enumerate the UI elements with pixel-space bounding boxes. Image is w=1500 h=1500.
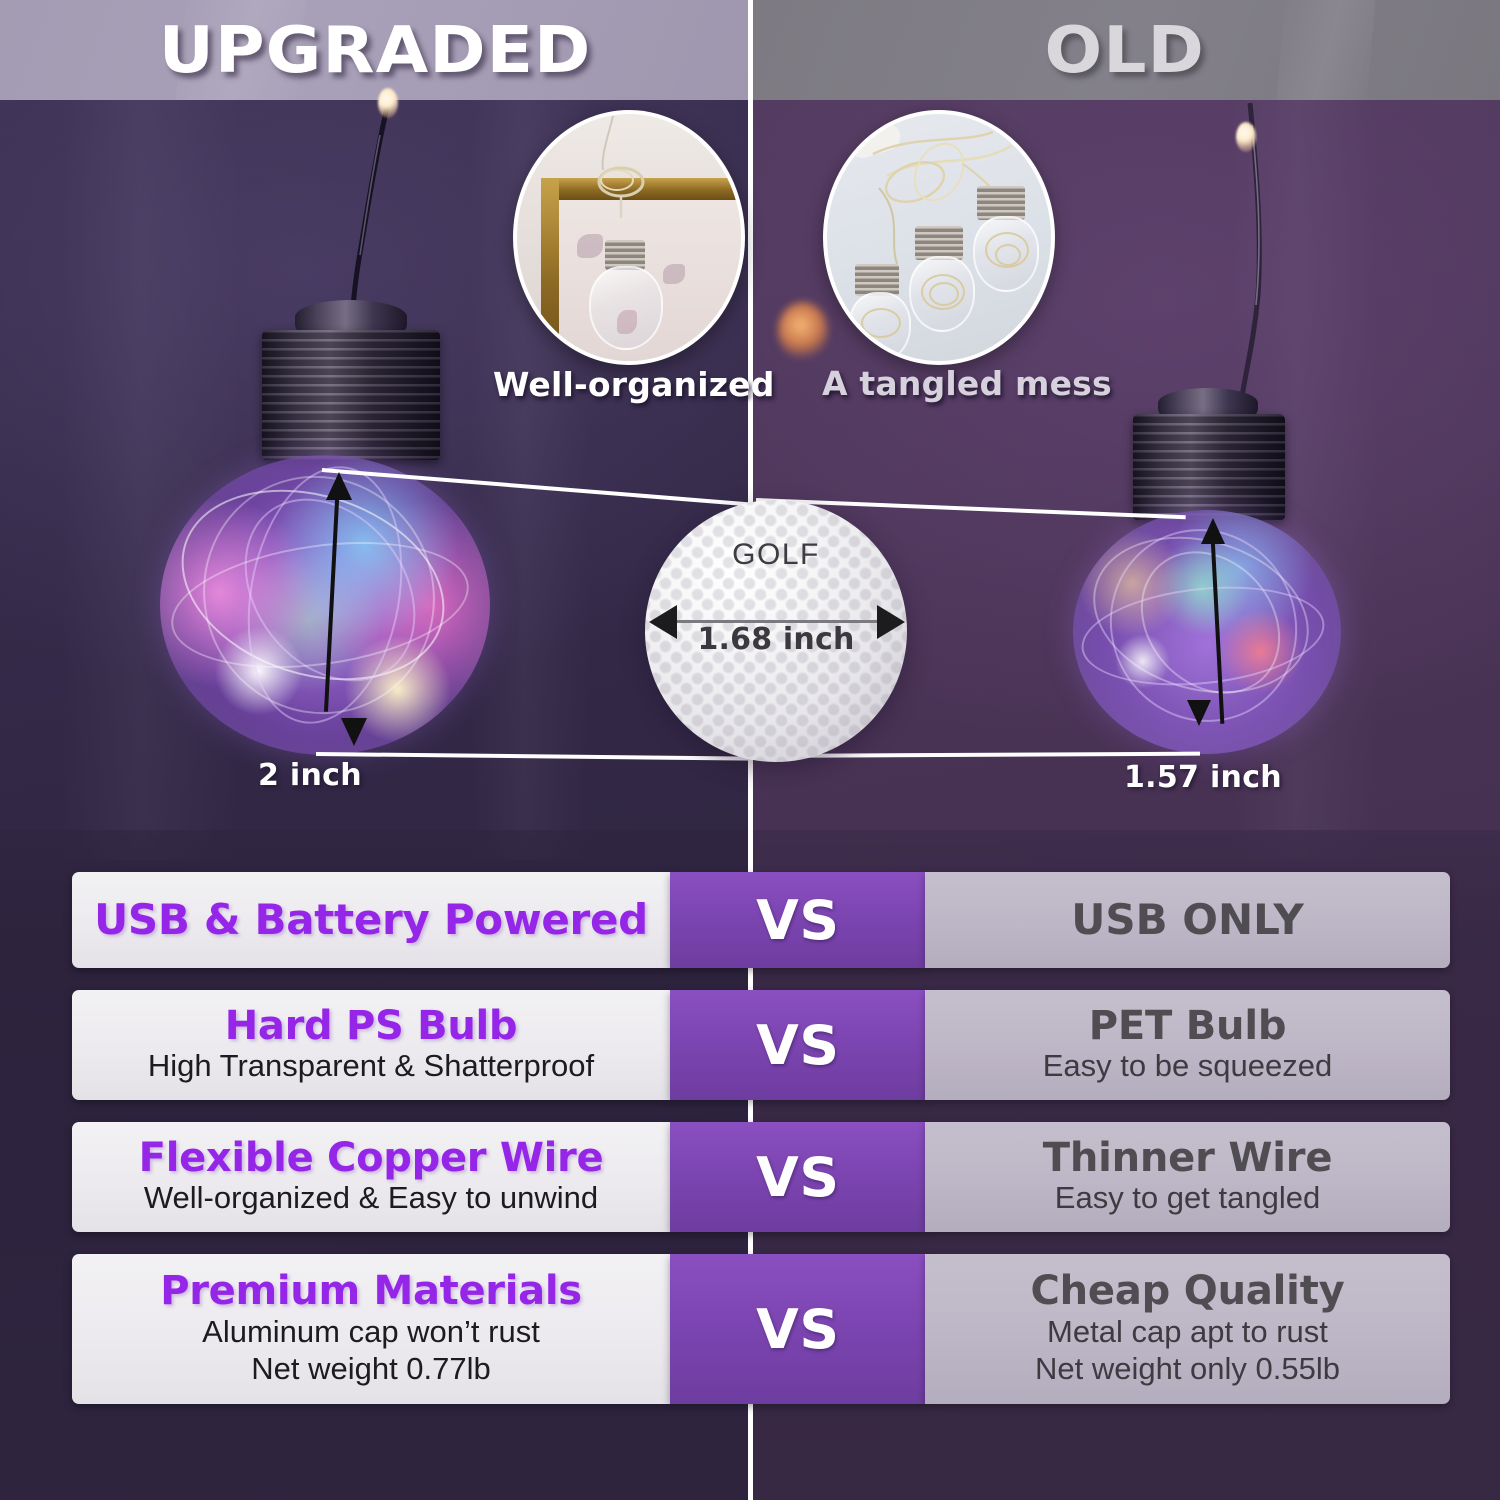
row-right-cell: Thinner Wire Easy to get tangled [925, 1122, 1450, 1232]
vs-badge: VS [670, 1122, 925, 1232]
clear-bulb-photo [589, 266, 663, 350]
inset-photo-well-organized [513, 110, 745, 365]
dimension-arrowhead-up-left [326, 472, 352, 500]
row-right-subtitle: Easy to be squeezed [1043, 1049, 1333, 1084]
row-right-title: Thinner Wire [1043, 1138, 1333, 1180]
golf-ball: GOLF 1.68 inch [645, 500, 907, 762]
clear-bulb-photo [849, 292, 911, 362]
vs-badge: VS [670, 1254, 925, 1404]
row-left-title: USB & Battery Powered [94, 898, 648, 942]
row-spacer [0, 968, 1500, 990]
row-right-title: USB ONLY [1071, 898, 1303, 942]
wire-tip-light-left [378, 88, 398, 118]
vs-badge: VS [670, 990, 925, 1100]
row-right-title: Cheap Quality [1030, 1271, 1344, 1313]
row-right-subtitle: Net weight only 0.55lb [1035, 1352, 1340, 1387]
row-left-title: Flexible Copper Wire [139, 1138, 604, 1180]
comparison-row: Hard PS Bulb High Transparent & Shatterp… [0, 990, 1500, 1100]
vs-label: VS [756, 1146, 839, 1209]
dimension-arrowhead-down-left [341, 718, 367, 746]
inset-caption-left: Well-organized [493, 365, 775, 404]
bulb-cap-top-left [295, 300, 407, 334]
dimension-label-left: 2 inch [258, 758, 362, 793]
bulb-metal-cap [977, 186, 1025, 220]
comparison-infographic: UPGRADED OLD 2 inch [0, 0, 1500, 1500]
vs-badge: VS [670, 872, 925, 968]
golf-dimension-shaft [672, 620, 884, 623]
vs-label: VS [756, 1298, 839, 1361]
header-old-side: OLD [750, 0, 1500, 100]
row-left-cell: Premium Materials Aluminum cap won’t rus… [72, 1254, 670, 1404]
golf-arrowhead-right [877, 605, 905, 639]
row-left-subtitle: Net weight 0.77lb [251, 1352, 491, 1387]
row-left-subtitle: Well-organized & Easy to unwind [144, 1181, 598, 1216]
comparison-row: USB & Battery Powered VS USB ONLY [0, 872, 1500, 968]
row-left-subtitle: Aluminum cap won’t rust [202, 1315, 540, 1350]
bulb-metal-cap [915, 226, 963, 260]
row-right-cell: PET Bulb Easy to be squeezed [925, 990, 1450, 1100]
header-sheen [1271, 0, 1378, 100]
vs-label: VS [756, 1014, 839, 1077]
comparison-table: USB & Battery Powered VS USB ONLY Hard P… [0, 872, 1500, 1404]
clear-bulb-photo [909, 256, 975, 332]
row-right-subtitle: Metal cap apt to rust [1047, 1315, 1328, 1350]
row-right-subtitle: Easy to get tangled [1055, 1181, 1320, 1216]
row-right-title: PET Bulb [1089, 1006, 1287, 1048]
bokeh-light [778, 302, 828, 360]
header-upgraded-side: UPGRADED [0, 0, 750, 100]
clear-bulb-photo [973, 216, 1039, 292]
wallpaper-motif [663, 264, 685, 284]
bulb-cap-right [1133, 414, 1285, 520]
header-title-upgraded: UPGRADED [159, 19, 592, 83]
row-left-title: Hard PS Bulb [225, 1006, 518, 1048]
header-title-old: OLD [1045, 19, 1205, 83]
comparison-row: Flexible Copper Wire Well-organized & Ea… [0, 1122, 1500, 1232]
vs-label: VS [756, 889, 839, 952]
dimension-label-right: 1.57 inch [1124, 760, 1282, 795]
comparison-row: Premium Materials Aluminum cap won’t rus… [0, 1254, 1500, 1404]
row-left-subtitle: High Transparent & Shatterproof [148, 1049, 594, 1084]
inset-photo-tangled-mess [823, 110, 1055, 365]
row-spacer [0, 1232, 1500, 1254]
dimension-arrowhead-up-right [1201, 518, 1225, 544]
inset-caption-right: A tangled mess [822, 364, 1112, 403]
golf-ball-dimension-label: 1.68 inch [645, 622, 907, 657]
dimension-arrowhead-down-right [1187, 700, 1211, 726]
row-left-title: Premium Materials [160, 1271, 582, 1313]
wire-coil-icon [557, 114, 717, 244]
row-right-cell: USB ONLY [925, 872, 1450, 968]
bulb-cap-left [262, 330, 440, 460]
row-left-cell: Flexible Copper Wire Well-organized & Ea… [72, 1122, 670, 1232]
row-left-cell: Hard PS Bulb High Transparent & Shatterp… [72, 990, 670, 1100]
golf-ball-brand-text: GOLF [645, 538, 907, 572]
row-right-cell: Cheap Quality Metal cap apt to rust Net … [925, 1254, 1450, 1404]
row-spacer [0, 1100, 1500, 1122]
wire-tip-light-right [1236, 122, 1256, 152]
row-left-cell: USB & Battery Powered [72, 872, 670, 968]
golf-arrowhead-left [649, 605, 677, 639]
